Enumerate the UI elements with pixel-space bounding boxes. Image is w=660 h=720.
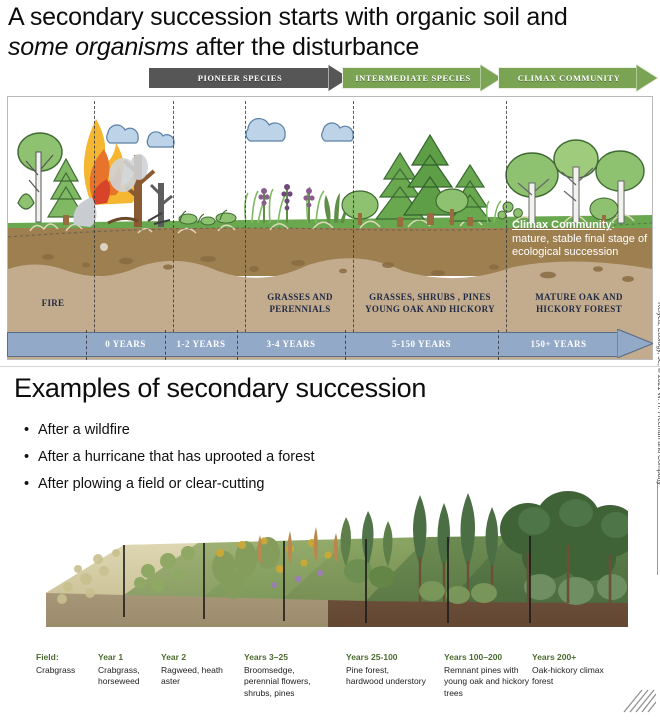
grasses-and-perennials (245, 184, 352, 223)
succession-timeline: 0 YEARS 1-2 YEARS 3-4 YEARS 5-150 YEARS … (7, 330, 653, 360)
succession-stage-captions: Field:Crabgrass Year 1Crabgrass, horsewe… (28, 652, 648, 714)
callout-colon: : (612, 219, 615, 231)
callout-body: mature, stable final stage of ecological… (512, 233, 647, 259)
zone-divider (506, 101, 507, 357)
resize-handle-icon[interactable] (622, 684, 656, 714)
caption-years-25-100: Years 25-100Pine forest, hardwood unders… (346, 652, 428, 688)
caption-year-2: Year 2Ragweed, heath aster (161, 652, 223, 688)
title-line-1: A secondary succession starts with organ… (8, 3, 568, 31)
timeline-tick (345, 330, 346, 360)
arrow-head-icon (636, 64, 658, 92)
slide-secondary-succession: A secondary succession starts with organ… (0, 0, 660, 366)
succession-cross-section-diagram: FIRE GRASSES ANDPERENNIALS GRASSES, SHRU… (7, 96, 653, 360)
timeline-segment-150-plus-years: 150+ YEARS (498, 332, 619, 357)
climax-community-callout: Climax Community: mature, stable final s… (512, 219, 648, 260)
zone-divider (245, 101, 246, 357)
zone-label-grasses-perennials: GRASSES ANDPERENNIALS (248, 291, 352, 315)
examples-page-title: Examples of secondary succession (14, 373, 426, 404)
perennial-flower (303, 188, 314, 223)
phase-arrow-pioneer-species: PIONEER SPECIES (148, 64, 350, 92)
title-line-2-italic: some organisms (8, 33, 189, 61)
zone-label-mature-oak-hickory: MATURE OAK ANDHICKORY FOREST (510, 291, 648, 315)
shrubs-and-young-pines (342, 135, 501, 227)
succession-phase-band: PIONEER SPECIES INTERMEDIATE SPECIES CLI… (0, 64, 660, 92)
timeline-tick (86, 330, 87, 360)
perennial-flower (281, 184, 292, 223)
examples-bullet-list: •After a wildfire •After a hurricane tha… (24, 417, 544, 498)
title-line-2-rest: after the disturbance (189, 33, 419, 61)
caption-field: Field:Crabgrass (36, 652, 94, 676)
zone-label-grasses-shrubs-pines: GRASSES, SHRUBS , PINESYOUNG OAK AND HIC… (356, 291, 504, 315)
timeline-segment-1-2-years: 1-2 YEARS (165, 332, 237, 357)
caption-years-3-25: Years 3–25Broomsedge, perennial flowers,… (244, 652, 328, 699)
list-item: •After a wildfire (24, 417, 544, 444)
timeline-tick (237, 330, 238, 360)
timeline-segment-5-150-years: 5-150 YEARS (345, 332, 498, 357)
phase-arrow-intermediate-species: INTERMEDIATE SPECIES (342, 64, 502, 92)
succession-photo-strip (28, 487, 628, 647)
zone-divider (353, 101, 354, 357)
list-item: •After a hurricane that has uprooted a f… (24, 444, 544, 471)
caption-years-100-200: Years 100–200Remnant pines with young oa… (444, 652, 530, 699)
bullet-text: After a wildfire (38, 422, 130, 438)
phase-label-intermediate: INTERMEDIATE SPECIES (355, 73, 488, 83)
zone-label-fire: FIRE (14, 297, 92, 309)
slide-examples-of-secondary-succession: Examples of secondary succession •After … (0, 366, 660, 720)
page-title: A secondary succession starts with organ… (8, 2, 648, 62)
timeline-tick (165, 330, 166, 360)
caption-year-1: Year 1Crabgrass, horseweed (98, 652, 158, 688)
credit-divider (657, 479, 658, 575)
timeline-arrow-head-icon (617, 329, 653, 358)
mature-forest (498, 140, 644, 225)
timeline-segment-0-years: 0 YEARS (86, 332, 165, 357)
timeline-segment-3-4-years: 3-4 YEARS (237, 332, 345, 357)
perennial-flower (258, 188, 269, 223)
timeline-tick (498, 330, 499, 360)
figure-credit: Relyea, Ecology, 9e, © 2021 W. H. Freema… (656, 302, 660, 485)
zone-divider (173, 101, 174, 357)
zone-divider (94, 101, 95, 357)
shrub-and-young-pine-layer (341, 511, 396, 588)
cloud-icon (107, 119, 353, 147)
phase-arrow-climax-community: CLIMAX COMMUNITY (498, 64, 658, 92)
early-sprouts (179, 210, 236, 225)
phase-label-pioneer: PIONEER SPECIES (198, 73, 301, 83)
bullet-text: After a hurricane that has uprooted a fo… (38, 449, 314, 465)
callout-heading: Climax Community (512, 219, 612, 231)
caption-years-200-plus: Years 200+Oak-hickory climax forest (532, 652, 612, 688)
phase-label-climax: CLIMAX COMMUNITY (518, 73, 639, 83)
